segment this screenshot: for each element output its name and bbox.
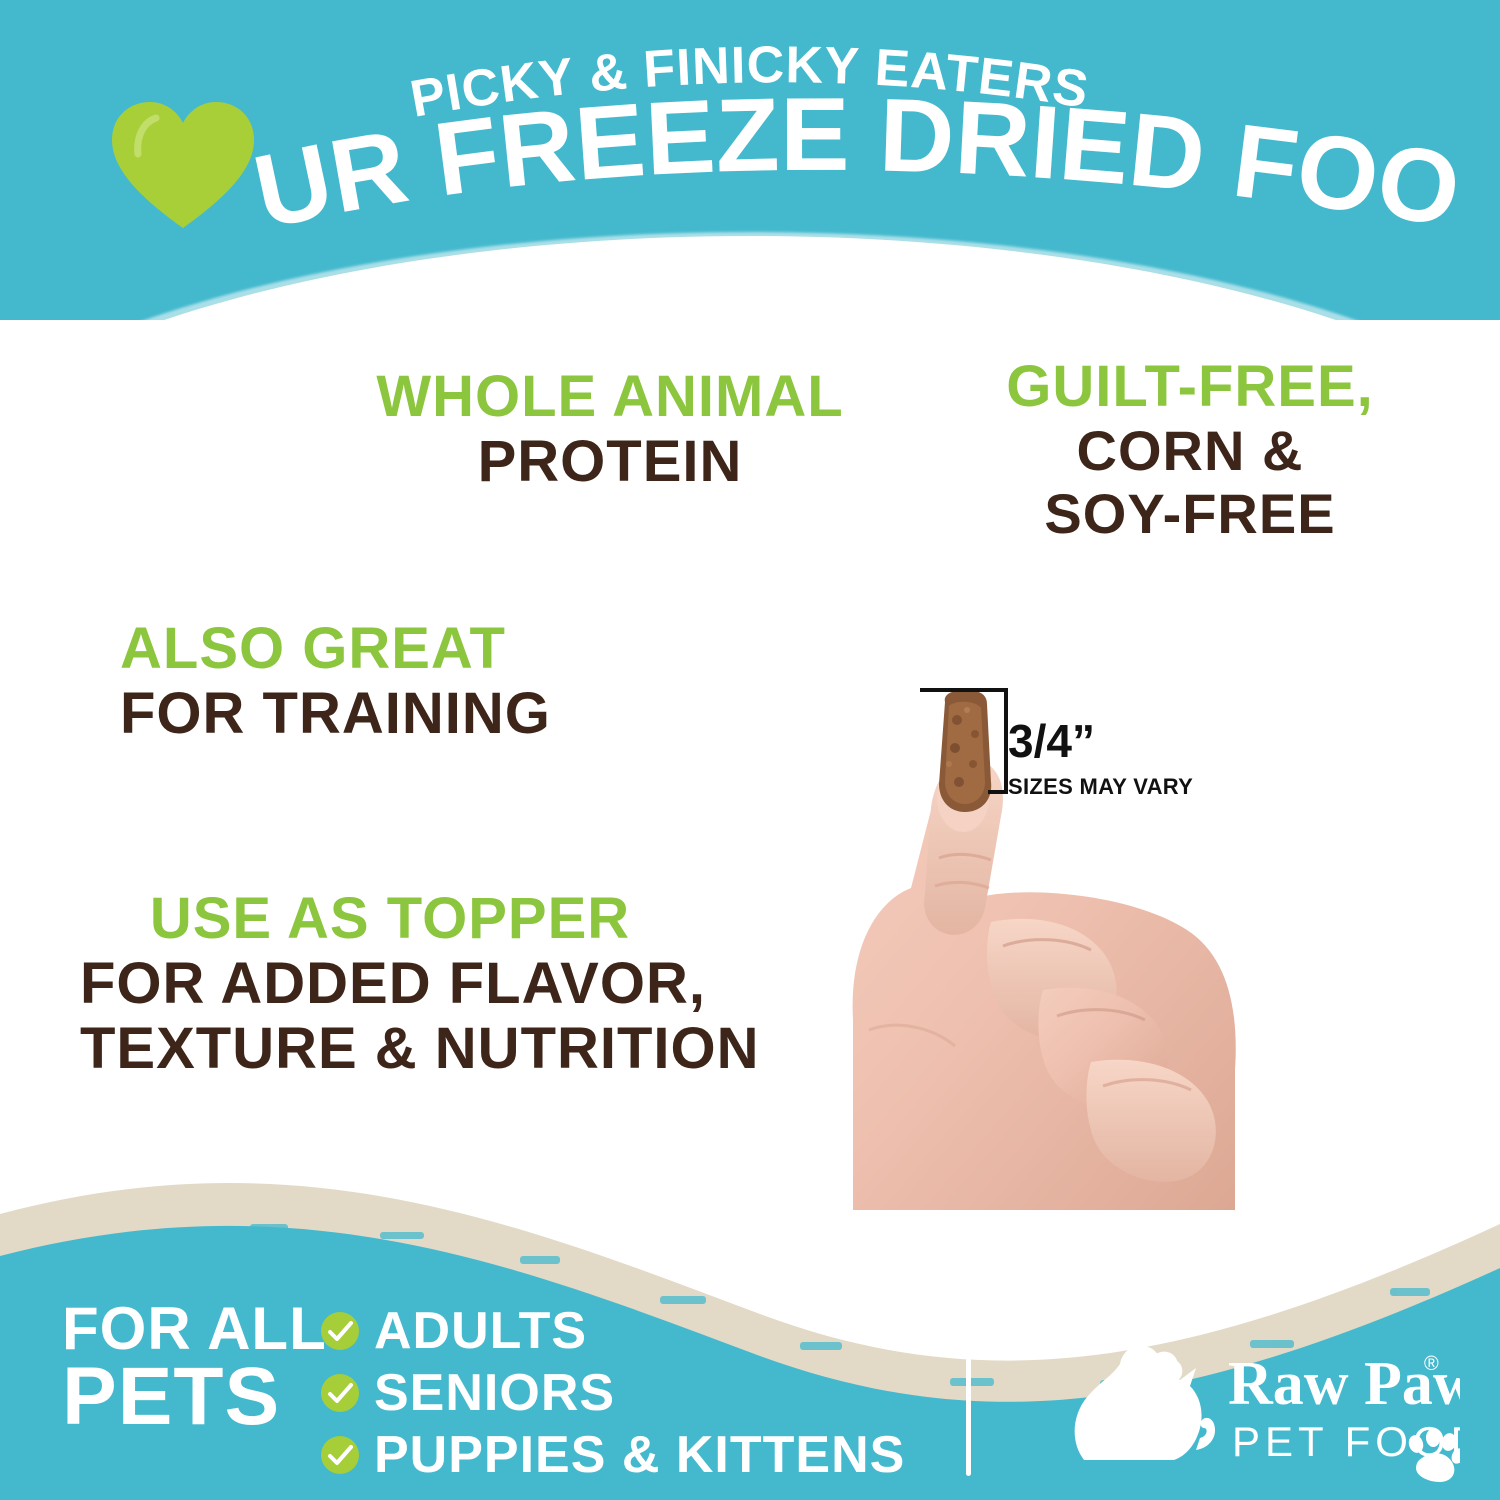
for-all-pets-line1: FOR ALL [62, 1300, 327, 1358]
for-all-pets-heading: FOR ALL PETS [62, 1300, 327, 1436]
list-item: ADULTS [320, 1302, 905, 1360]
size-value: 3/4” [1008, 718, 1193, 764]
feature-subline: TEXTURE & NUTRITION [80, 1019, 700, 1078]
pet-type-label: ADULTS [374, 1305, 587, 1357]
feature-headline: USE AS TOPPER [80, 890, 700, 948]
registered-mark: ® [1424, 1353, 1439, 1375]
list-item: SENIORS [320, 1364, 905, 1422]
check-circle-icon [320, 1311, 360, 1351]
size-note: SIZES MAY VARY [1008, 774, 1193, 800]
size-callout: 3/4” SIZES MAY VARY [1008, 718, 1193, 800]
pet-type-label: PUPPIES & KITTENS [374, 1429, 905, 1481]
measurement-bracket-icon [918, 686, 1010, 796]
for-all-pets-line2: PETS [62, 1358, 327, 1437]
check-circle-icon [320, 1373, 360, 1413]
dog-and-cat-silhouette-icon [1075, 1346, 1215, 1460]
brand-logo: Raw Paws ® PET FOOD [1060, 1338, 1460, 1486]
feature-subline: FOR ADDED FLAVOR, [80, 954, 700, 1013]
feature-subline: FOR TRAINING [120, 684, 640, 743]
feature-headline: WHOLE ANIMAL [375, 368, 845, 426]
product-infographic: PICKY & FINICKY EATERS OUR FREEZE DRIED … [0, 0, 1500, 1500]
feature-also-great-for-training: ALSO GREAT FOR TRAINING [120, 620, 640, 743]
pet-type-list: ADULTS SENIORS PUPPIES & KITTENS [320, 1302, 905, 1488]
feature-subline: SOY-FREE [990, 485, 1390, 542]
pet-type-label: SENIORS [374, 1367, 615, 1419]
list-item: PUPPIES & KITTENS [320, 1426, 905, 1484]
logo-divider [966, 1348, 971, 1476]
check-circle-icon [320, 1435, 360, 1475]
feature-subline: CORN & [990, 422, 1390, 479]
feature-subline: PROTEIN [375, 432, 845, 491]
feature-use-as-topper: USE AS TOPPER FOR ADDED FLAVOR, TEXTURE … [80, 890, 700, 1078]
feature-headline: GUILT-FREE, [990, 358, 1390, 416]
feature-guilt-free: GUILT-FREE, CORN & SOY-FREE [990, 358, 1390, 542]
feature-whole-animal-protein: WHOLE ANIMAL PROTEIN [375, 368, 845, 491]
heart-icon [108, 96, 258, 232]
feature-headline: ALSO GREAT [120, 620, 640, 678]
